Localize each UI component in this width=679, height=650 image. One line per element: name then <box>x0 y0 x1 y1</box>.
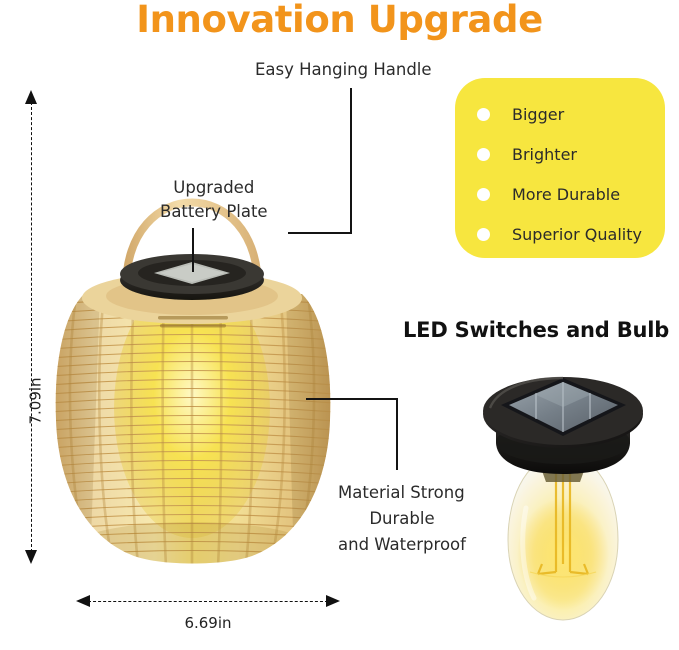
feature-card: Bigger Brighter More Durable Superior Qu… <box>455 78 665 258</box>
infographic-canvas: Innovation Upgrade <box>0 0 679 650</box>
feature-item-more-durable: More Durable <box>477 185 620 204</box>
dimension-height-label: 7.09in <box>27 377 45 424</box>
leader-material-horizontal <box>306 398 398 400</box>
dimension-width-line <box>88 601 328 602</box>
feature-item-superior-quality: Superior Quality <box>477 225 642 244</box>
leader-battery-plate <box>192 228 194 272</box>
feature-label: Bigger <box>512 105 564 124</box>
feature-item-bigger: Bigger <box>477 105 564 124</box>
leader-handle-horizontal <box>288 232 352 234</box>
feature-label: Superior Quality <box>512 225 642 244</box>
bullet-dot-icon <box>477 188 490 201</box>
callout-hanging-handle: Easy Hanging Handle <box>255 58 432 81</box>
bullet-dot-icon <box>477 148 490 161</box>
page-title: Innovation Upgrade <box>0 0 679 41</box>
callout-material-line1: Material Strong <box>338 480 466 506</box>
arrow-down-icon <box>25 550 37 564</box>
arrow-right-icon <box>326 595 340 607</box>
feature-item-brighter: Brighter <box>477 145 577 164</box>
led-section-heading: LED Switches and Bulb <box>403 318 669 342</box>
bullet-dot-icon <box>477 108 490 121</box>
bullet-dot-icon <box>477 228 490 241</box>
callout-battery-plate-line1: Upgraded <box>160 176 268 200</box>
leader-handle-vertical <box>350 88 352 234</box>
callout-material-line3: and Waterproof <box>338 532 466 558</box>
callout-battery-plate: Upgraded Battery Plate <box>160 176 268 224</box>
dimension-width-label: 6.69in <box>78 614 338 632</box>
led-bulb-image <box>468 358 658 643</box>
callout-material-line2: Durable <box>338 506 466 532</box>
dimension-height-line <box>31 102 32 552</box>
feature-label: Brighter <box>512 145 577 164</box>
callout-material: Material Strong Durable and Waterproof <box>338 480 466 558</box>
leader-material-vertical <box>396 398 398 470</box>
feature-label: More Durable <box>512 185 620 204</box>
callout-battery-plate-line2: Battery Plate <box>160 200 268 224</box>
